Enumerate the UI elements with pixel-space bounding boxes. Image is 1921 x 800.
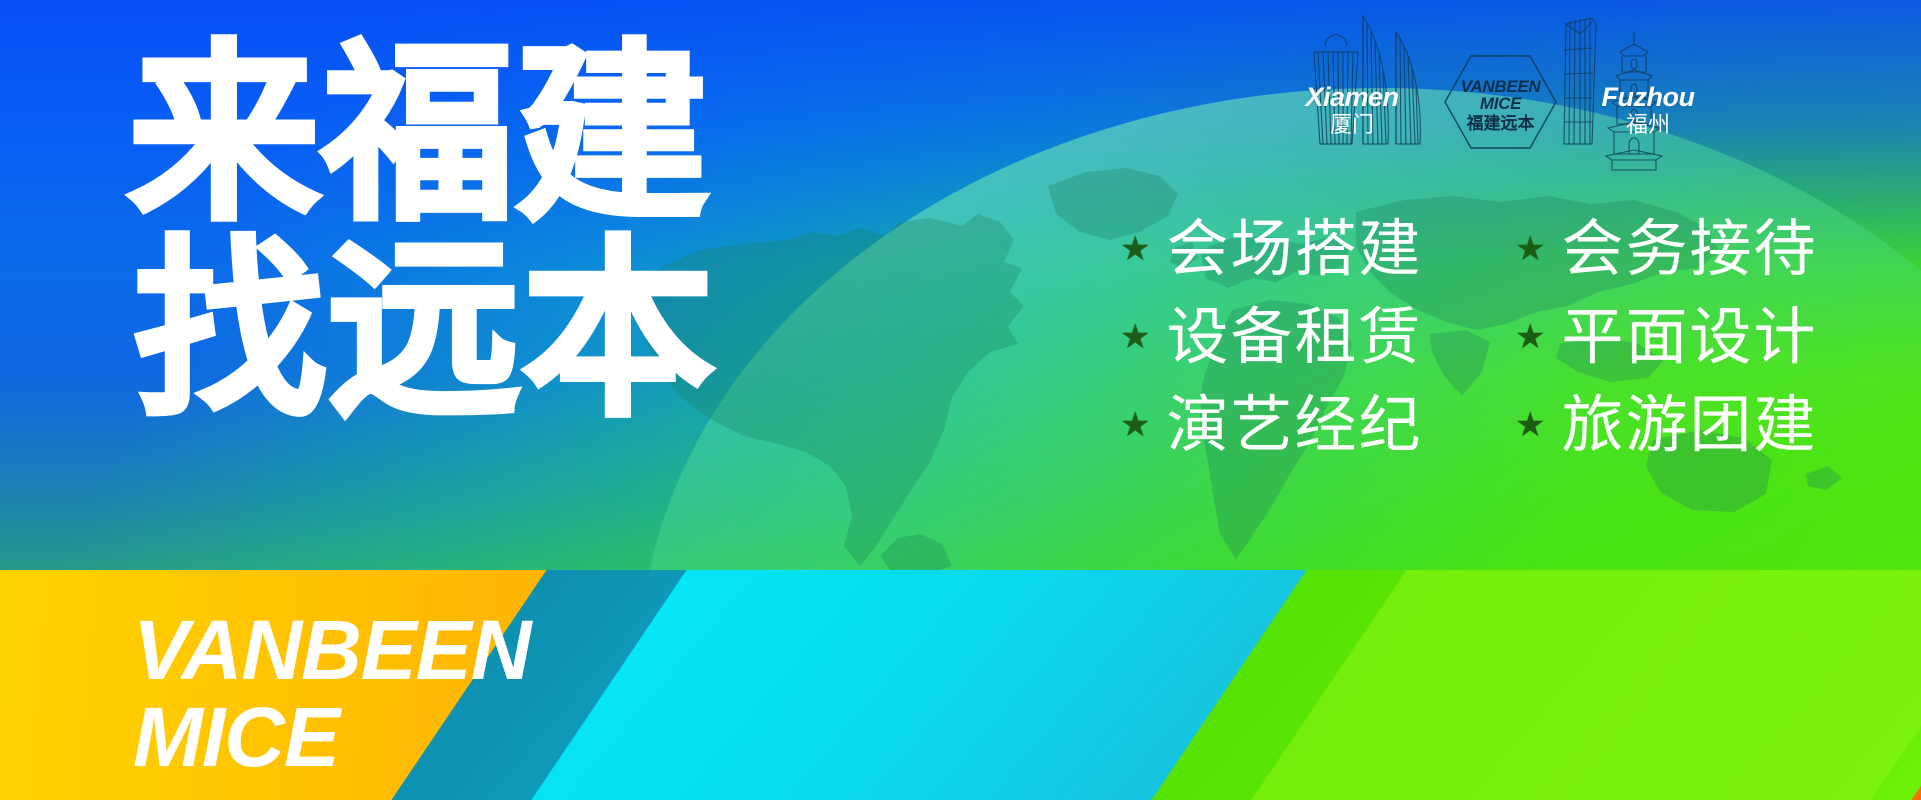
banner-main-area: 来福建 找远本 ★ 会场搭建 ★ 会务接待 ★ 设备租赁 ★ 平面设计 ★ [0,0,1921,570]
service-label: 旅游团建 [1561,388,1817,462]
service-list: ★ 会场搭建 ★ 会务接待 ★ 设备租赁 ★ 平面设计 ★ 演艺经纪 ★ 旅游团… [1120,212,1910,462]
city-label-xiamen: Xiamen 厦门 [1282,84,1422,137]
city-name-cn: 福州 [1578,115,1718,137]
service-label: 会场搭建 [1166,212,1422,286]
brand-line-1: VANBEEN [133,608,531,692]
star-icon: ★ [1120,320,1150,354]
city-name-en: Fuzhou [1578,84,1718,111]
vanbeen-hexagon-logo: VANBEEN MICE 福建远本 [1443,52,1558,152]
service-item: ★ 会场搭建 [1120,212,1515,286]
service-item: ★ 会务接待 [1515,212,1910,286]
service-item: ★ 平面设计 [1515,300,1910,374]
city-label-fuzhou: Fuzhou 福州 [1578,84,1718,137]
promotional-banner: 来福建 找远本 ★ 会场搭建 ★ 会务接待 ★ 设备租赁 ★ 平面设计 ★ [0,0,1921,800]
brand-line-2: MICE [133,692,531,782]
star-icon: ★ [1515,408,1545,442]
city-landmarks: Xiamen 厦门 Fuzhou 福州 VANBEEN MICE 福建远本 [1300,4,1700,174]
service-label: 演艺经纪 [1166,388,1422,462]
banner-bottom-bar: VANBEEN MICE [0,570,1921,800]
city-name-cn: 厦门 [1282,115,1422,137]
service-label: 会务接待 [1561,212,1817,286]
hex-logo-line-2: MICE [1443,95,1558,112]
city-name-en: Xiamen [1282,84,1422,111]
hexagon-logo-text: VANBEEN MICE 福建远本 [1443,78,1558,135]
star-icon: ★ [1515,232,1545,266]
service-item: ★ 旅游团建 [1515,388,1910,462]
headline-line-1: 来福建 [128,38,716,234]
star-icon: ★ [1120,408,1150,442]
star-icon: ★ [1120,232,1150,266]
service-item: ★ 设备租赁 [1120,300,1515,374]
hex-logo-line-3: 福建远本 [1443,114,1558,135]
service-item: ★ 演艺经纪 [1120,388,1515,462]
brand-wordmark: VANBEEN MICE [133,608,531,782]
service-label: 平面设计 [1561,300,1817,374]
service-label: 设备租赁 [1166,300,1422,374]
headline: 来福建 找远本 [128,38,716,430]
hex-logo-line-1: VANBEEN [1443,78,1558,95]
star-icon: ★ [1515,320,1545,354]
headline-line-2: 找远本 [134,234,716,430]
